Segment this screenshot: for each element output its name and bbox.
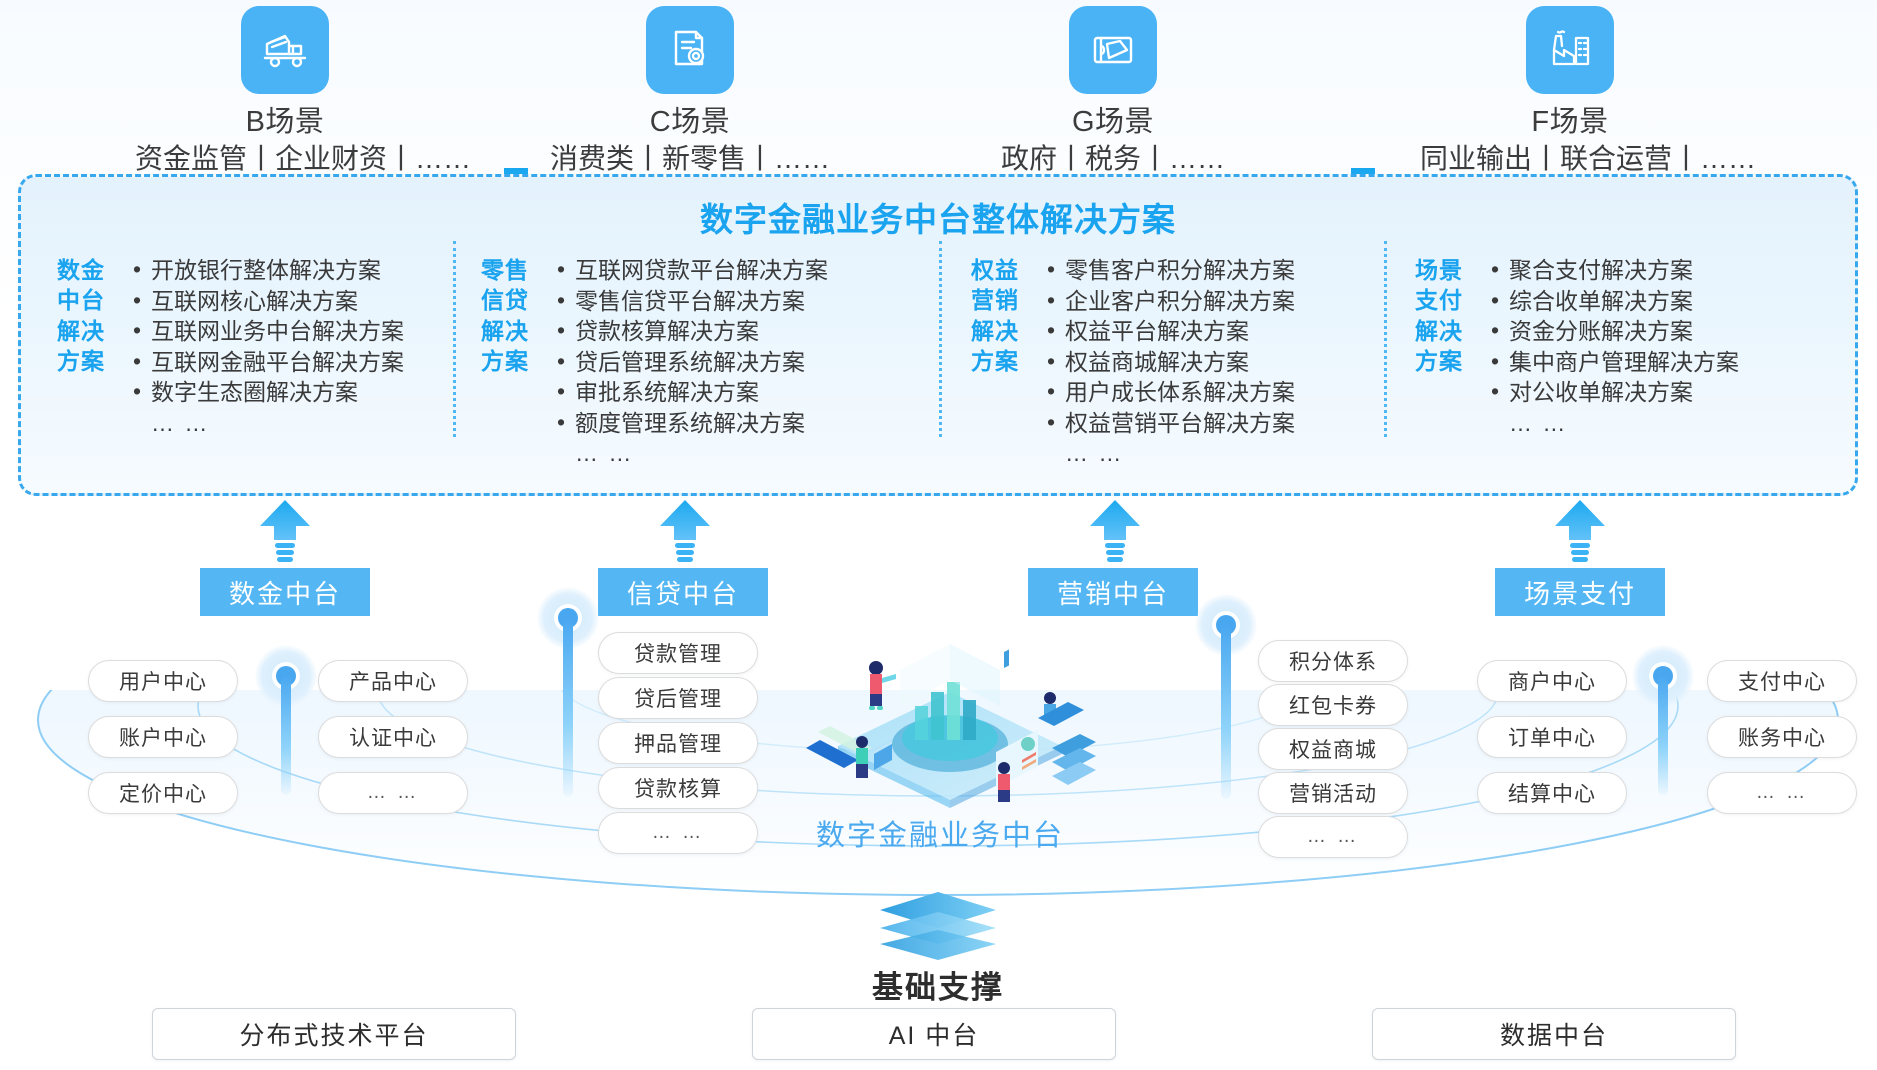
base-box-distributed-platform[interactable]: 分布式技术平台: [152, 1008, 516, 1060]
isometric-platform-illustration: [800, 640, 1100, 830]
base-box-label: 数据中台: [1500, 1016, 1608, 1052]
list-item: 权益营销平台解决方案: [1045, 408, 1295, 439]
pill-label: 账务中心: [1738, 722, 1826, 752]
scene-title: G场景: [963, 104, 1263, 141]
base-box-data-platform[interactable]: 数据中台: [1372, 1008, 1736, 1060]
pill-label: 红包卡券: [1289, 690, 1377, 720]
pill-account-center[interactable]: 账户中心: [88, 716, 238, 758]
column-label: 权益营销 解决方案: [971, 255, 1035, 376]
pill-label: … …: [1756, 782, 1808, 804]
column-item-list: 零售客户积分解决方案 企业客户积分解决方案 权益平台解决方案 权益商城解决方案 …: [1045, 255, 1295, 469]
list-item: 聚合支付解决方案: [1489, 255, 1739, 286]
pill-label: 用户中心: [119, 666, 207, 696]
solution-column-retail-credit: 零售信贷 解决方案 互联网贷款平台解决方案 零售信贷平台解决方案 贷款核算解决方…: [481, 255, 828, 469]
platform-box-label: 场景支付: [1524, 574, 1636, 611]
pill-label: 账户中心: [119, 722, 207, 752]
platform-box-scenario-payment[interactable]: 场景支付: [1495, 568, 1665, 616]
pill-label: … …: [652, 822, 704, 844]
up-arrow-payment: [1555, 500, 1605, 564]
pill-label: … …: [367, 782, 419, 804]
up-arrow-marketing: [1090, 500, 1140, 564]
column-item-list: 聚合支付解决方案 综合收单解决方案 资金分账解决方案 集中商户管理解决方案 对公…: [1489, 255, 1739, 438]
base-box-ai-platform[interactable]: AI 中台: [752, 1008, 1116, 1060]
pill-pricing-center[interactable]: 定价中心: [88, 772, 238, 814]
pill-product-center[interactable]: 产品中心: [318, 660, 468, 702]
pill-label: 认证中心: [349, 722, 437, 752]
pill-points-system[interactable]: 积分体系: [1258, 640, 1408, 682]
list-item: 数字生态圈解决方案: [131, 377, 404, 408]
list-item: 对公收单解决方案: [1489, 377, 1739, 408]
list-item: 互联网核心解决方案: [131, 286, 404, 317]
document-verified-icon: [646, 6, 734, 94]
column-item-list: 互联网贷款平台解决方案 零售信贷平台解决方案 贷款核算解决方案 贷后管理系统解决…: [555, 255, 828, 469]
pill-label: 押品管理: [634, 728, 722, 758]
column-label: 场景支付 解决方案: [1415, 255, 1479, 376]
column-label: 零售信贷 解决方案: [481, 255, 545, 376]
pill-more-digital-finance[interactable]: … …: [318, 772, 468, 814]
solution-column-rights-marketing: 权益营销 解决方案 零售客户积分解决方案 企业客户积分解决方案 权益平台解决方案…: [971, 255, 1295, 469]
pill-merchant-center[interactable]: 商户中心: [1477, 660, 1627, 702]
truck-shipping-icon: [241, 6, 329, 94]
pill-more-payment[interactable]: … …: [1707, 772, 1857, 814]
pill-label: 营销活动: [1289, 778, 1377, 808]
base-box-label: 分布式技术平台: [239, 1016, 428, 1052]
pill-label: … …: [1307, 826, 1359, 848]
list-item: 用户成长体系解决方案: [1045, 377, 1295, 408]
pill-coupon[interactable]: 红包卡券: [1258, 684, 1408, 726]
scene-card-b: B场景 资金监管丨企业财资丨……: [135, 6, 435, 177]
layer-stack-icon: [868, 890, 1008, 962]
list-item: 综合收单解决方案: [1489, 286, 1739, 317]
platform-box-marketing[interactable]: 营销中台: [1028, 568, 1198, 616]
scene-title: C场景: [540, 104, 840, 141]
scene-subtitle: 政府丨税务丨……: [963, 141, 1263, 177]
list-item: 开放银行整体解决方案: [131, 255, 404, 286]
pill-more-credit[interactable]: … …: [598, 812, 758, 854]
pill-label: 贷款核算: [634, 773, 722, 803]
list-item: 零售客户积分解决方案: [1045, 255, 1295, 286]
pill-rights-mall[interactable]: 权益商城: [1258, 728, 1408, 770]
platform-box-digital-finance[interactable]: 数金中台: [200, 568, 370, 616]
list-item: 贷款核算解决方案: [555, 316, 828, 347]
scene-title: B场景: [135, 104, 435, 141]
platform-box-label: 数金中台: [229, 574, 341, 611]
map-plan-icon: [1069, 6, 1157, 94]
list-item: 审批系统解决方案: [555, 377, 828, 408]
pill-label: 贷款管理: [634, 638, 722, 668]
scene-card-f: F场景 同业输出丨联合运营丨……: [1420, 6, 1720, 177]
list-item-ellipsis: … …: [1045, 438, 1295, 469]
pill-user-center[interactable]: 用户中心: [88, 660, 238, 702]
list-item: 权益商城解决方案: [1045, 347, 1295, 378]
list-item-ellipsis: … …: [555, 438, 828, 469]
pill-label: 产品中心: [349, 666, 437, 696]
list-item: 互联网业务中台解决方案: [131, 316, 404, 347]
list-item: 互联网贷款平台解决方案: [555, 255, 828, 286]
list-item: 企业客户积分解决方案: [1045, 286, 1295, 317]
solution-column-digital-finance: 数金中台 解决方案 开放银行整体解决方案 互联网核心解决方案 互联网业务中台解决…: [57, 255, 404, 438]
disc-label: 数字金融业务中台: [760, 812, 1120, 854]
pill-settlement-center[interactable]: 结算中心: [1477, 772, 1627, 814]
pill-accounting-center[interactable]: 账务中心: [1707, 716, 1857, 758]
pill-collateral-management[interactable]: 押品管理: [598, 722, 758, 764]
list-item: 权益平台解决方案: [1045, 316, 1295, 347]
pill-label: 贷后管理: [634, 683, 722, 713]
pill-label: 商户中心: [1508, 666, 1596, 696]
platform-box-label: 信贷中台: [627, 574, 739, 611]
scene-card-c: C场景 消费类丨新零售丨……: [540, 6, 840, 177]
list-item: 零售信贷平台解决方案: [555, 286, 828, 317]
scene-subtitle: 消费类丨新零售丨……: [540, 141, 840, 177]
column-separator-1: [453, 241, 456, 437]
list-item: 贷后管理系统解决方案: [555, 347, 828, 378]
list-item: 资金分账解决方案: [1489, 316, 1739, 347]
platform-box-credit[interactable]: 信贷中台: [598, 568, 768, 616]
pill-label: 结算中心: [1508, 778, 1596, 808]
column-separator-3: [1384, 241, 1387, 437]
list-item-ellipsis: … …: [1489, 408, 1739, 439]
pill-marketing-campaign[interactable]: 营销活动: [1258, 772, 1408, 814]
pill-auth-center[interactable]: 认证中心: [318, 716, 468, 758]
pill-label: 积分体系: [1289, 646, 1377, 676]
pill-payment-center[interactable]: 支付中心: [1707, 660, 1857, 702]
solution-column-scenario-payment: 场景支付 解决方案 聚合支付解决方案 综合收单解决方案 资金分账解决方案 集中商…: [1415, 255, 1739, 438]
up-arrow-digital-finance: [260, 500, 310, 564]
column-label: 数金中台 解决方案: [57, 255, 121, 376]
scene-subtitle: 资金监管丨企业财资丨……: [135, 141, 435, 177]
base-support-title: 基础支撑: [828, 962, 1048, 1007]
scene-subtitle: 同业输出丨联合运营丨……: [1420, 141, 1720, 177]
pill-label: 订单中心: [1508, 722, 1596, 752]
factory-icon: [1526, 6, 1614, 94]
scene-card-g: G场景 政府丨税务丨……: [963, 6, 1263, 177]
list-item: 额度管理系统解决方案: [555, 408, 828, 439]
platform-box-label: 营销中台: [1057, 574, 1169, 611]
list-item: 互联网金融平台解决方案: [131, 347, 404, 378]
pill-label: 权益商城: [1289, 734, 1377, 764]
up-arrow-credit: [660, 500, 710, 564]
column-item-list: 开放银行整体解决方案 互联网核心解决方案 互联网业务中台解决方案 互联网金融平台…: [131, 255, 404, 438]
scene-title: F场景: [1420, 104, 1720, 141]
pill-order-center[interactable]: 订单中心: [1477, 716, 1627, 758]
base-box-label: AI 中台: [889, 1016, 980, 1052]
solution-panel: 数字金融业务中台整体解决方案 数金中台 解决方案 开放银行整体解决方案 互联网核…: [18, 174, 1858, 496]
pill-more-marketing[interactable]: … …: [1258, 816, 1408, 858]
pill-loan-management[interactable]: 贷款管理: [598, 632, 758, 674]
list-item-ellipsis: … …: [131, 408, 404, 439]
panel-title: 数字金融业务中台整体解决方案: [21, 193, 1855, 241]
pill-loan-accounting[interactable]: 贷款核算: [598, 767, 758, 809]
pill-label: 支付中心: [1738, 666, 1826, 696]
pill-label: 定价中心: [119, 778, 207, 808]
pill-post-loan-management[interactable]: 贷后管理: [598, 677, 758, 719]
list-item: 集中商户管理解决方案: [1489, 347, 1739, 378]
diagram-canvas: B场景 资金监管丨企业财资丨…… C场景 消费类丨新零售丨…… G场景 政: [0, 0, 1877, 1070]
column-separator-2: [939, 241, 942, 437]
